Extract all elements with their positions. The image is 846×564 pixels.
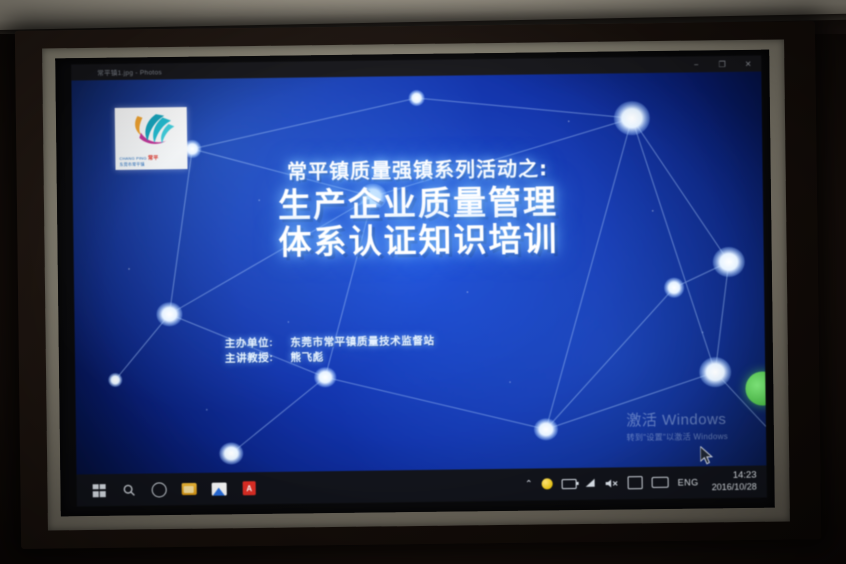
logo-wing-mark [115,107,188,160]
slide-image: CHANG PING 常平 东莞市常平镇 常平镇质量强镇系列活动之: 生产企业质… [71,72,766,475]
photos-icon[interactable] [211,480,228,497]
credit-row-organizer: 主办单位: 东莞市常平镇质量技术监督站 [225,334,435,352]
wifi-glyph [586,479,597,488]
credit-value-speaker: 熊飞彪 [290,351,323,363]
clock-time: 14:23 [733,471,757,482]
search-icon[interactable] [121,481,138,498]
start-button[interactable] [91,482,108,499]
taskbar-icon-group: A [91,480,258,499]
close-button[interactable]: ✕ [735,56,761,72]
slide-credits: 主办单位: 东莞市常平镇质量技术监督站 主讲教授: 熊飞彪 [225,334,435,367]
cortana-icon[interactable] [151,481,168,498]
system-tray: ⌃ ENG [525,471,759,495]
restore-button[interactable]: ❐ [709,56,735,72]
folder-glyph [182,483,197,495]
picture-glyph [212,482,227,495]
room-photo: 常平镇1.jpg - Photos − ❐ ✕ [0,0,846,564]
tray-notification-icon[interactable] [542,479,553,490]
minimize-button[interactable]: − [683,56,709,72]
keyboard-layout-icon[interactable] [652,477,669,488]
file-explorer-icon[interactable] [181,480,198,497]
mouse-cursor [700,446,713,465]
clock[interactable]: 14:23 2016/10/28 [711,471,756,493]
language-indicator[interactable]: ENG [678,477,699,487]
windows-activation-watermark: 激活 Windows 转到"设置"以激活 Windows [626,408,728,443]
acrobat-glyph: A [243,481,256,495]
window-controls: − ❐ ✕ [683,56,761,73]
pdf-reader-icon[interactable]: A [241,480,258,497]
ime-mode-icon[interactable] [628,477,643,490]
credit-label-organizer: 主办单位: [225,336,287,352]
slide-title-block: 常平镇质量强镇系列活动之: 生产企业质量管理 体系认证知识培训 [72,149,763,264]
window-title: 常平镇1.jpg - Photos [97,66,162,77]
volume-mute-icon[interactable] [606,478,619,488]
magnifier-glyph [123,483,136,496]
tv-screen: 常平镇1.jpg - Photos − ❐ ✕ [71,56,767,507]
credit-value-organizer: 东莞市常平镇质量技术监督站 [290,335,434,349]
watermark-line2: 转到"设置"以激活 Windows [627,431,729,443]
speaker-mute-glyph [606,478,619,488]
tray-chevron-up-icon[interactable]: ⌃ [525,479,533,490]
clock-date: 2016/10/28 [712,482,757,493]
credit-label-speaker: 主讲教授: [225,351,287,367]
battery-icon[interactable] [562,479,577,489]
windows-logo-icon [93,484,106,497]
watermark-line1: 激活 Windows [626,408,728,430]
credit-row-speaker: 主讲教授: 熊飞彪 [225,349,435,367]
network-icon[interactable] [586,479,597,488]
cortana-ring-glyph [152,482,167,497]
